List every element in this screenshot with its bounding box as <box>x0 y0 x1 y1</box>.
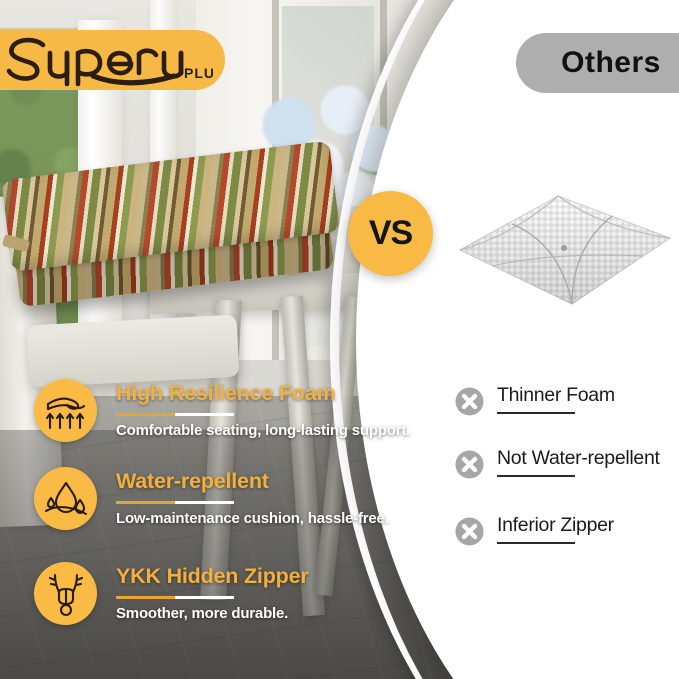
con-divider-rule <box>497 542 575 544</box>
water-drop-icon <box>34 467 97 530</box>
feature-text-block: High Resilience Foam Comfortable seating… <box>116 381 416 439</box>
brand-logo-wordmark: PLUS <box>0 32 213 88</box>
con-text-block: Thinner Foam <box>497 384 615 414</box>
circle-x-icon <box>455 387 484 416</box>
vs-label: VS <box>369 214 412 253</box>
con-title: Inferior Zipper <box>497 514 614 537</box>
feature-text-block: Water-repellent Low-maintenance cushion,… <box>116 469 416 527</box>
con-text-block: Not Water-repellent <box>497 447 660 477</box>
feature-item-ykk-hidden-zipper: YKK Hidden Zipper Smoother, more durable… <box>34 562 384 632</box>
con-title: Not Water-repellent <box>497 447 660 470</box>
chair-seat <box>27 315 240 388</box>
foam-resilience-icon <box>34 379 97 442</box>
con-divider-rule <box>497 475 575 477</box>
competitor-cushion-image <box>452 186 677 311</box>
others-badge: Others <box>516 33 679 93</box>
con-text-block: Inferior Zipper <box>497 514 614 544</box>
feature-subtitle: Comfortable seating, long-lasting suppor… <box>116 422 416 439</box>
con-item-not-water-repellent: Not Water-repellent <box>455 450 679 508</box>
zipper-icon <box>34 562 97 625</box>
vs-badge: VS <box>348 191 433 276</box>
circle-x-icon <box>455 517 484 546</box>
feature-title: Water-repellent <box>116 469 416 494</box>
feature-divider-rule <box>116 413 234 416</box>
feature-item-high-resilience-foam: High Resilience Foam Comfortable seating… <box>34 379 384 449</box>
con-divider-rule <box>497 412 575 414</box>
con-title: Thinner Foam <box>497 384 615 407</box>
con-item-thinner-foam: Thinner Foam <box>455 387 679 445</box>
feature-divider-rule <box>116 501 234 504</box>
con-item-inferior-zipper: Inferior Zipper <box>455 517 679 575</box>
feature-title: YKK Hidden Zipper <box>116 564 416 589</box>
feature-divider-rule <box>116 596 234 599</box>
feature-item-water-repellent: Water-repellent Low-maintenance cushion,… <box>34 467 384 537</box>
others-label: Others <box>561 46 661 80</box>
feature-title: High Resilience Foam <box>116 381 416 406</box>
feature-subtitle: Smoother, more durable. <box>116 605 416 622</box>
comparison-infographic: Others PLUS VS <box>0 0 679 679</box>
feature-subtitle: Low-maintenance cushion, hassle-free. <box>116 510 416 527</box>
svg-text:PLUS: PLUS <box>184 65 213 81</box>
circle-x-icon <box>455 450 484 479</box>
feature-text-block: YKK Hidden Zipper Smoother, more durable… <box>116 564 416 622</box>
brand-logo-badge: PLUS <box>0 30 225 90</box>
